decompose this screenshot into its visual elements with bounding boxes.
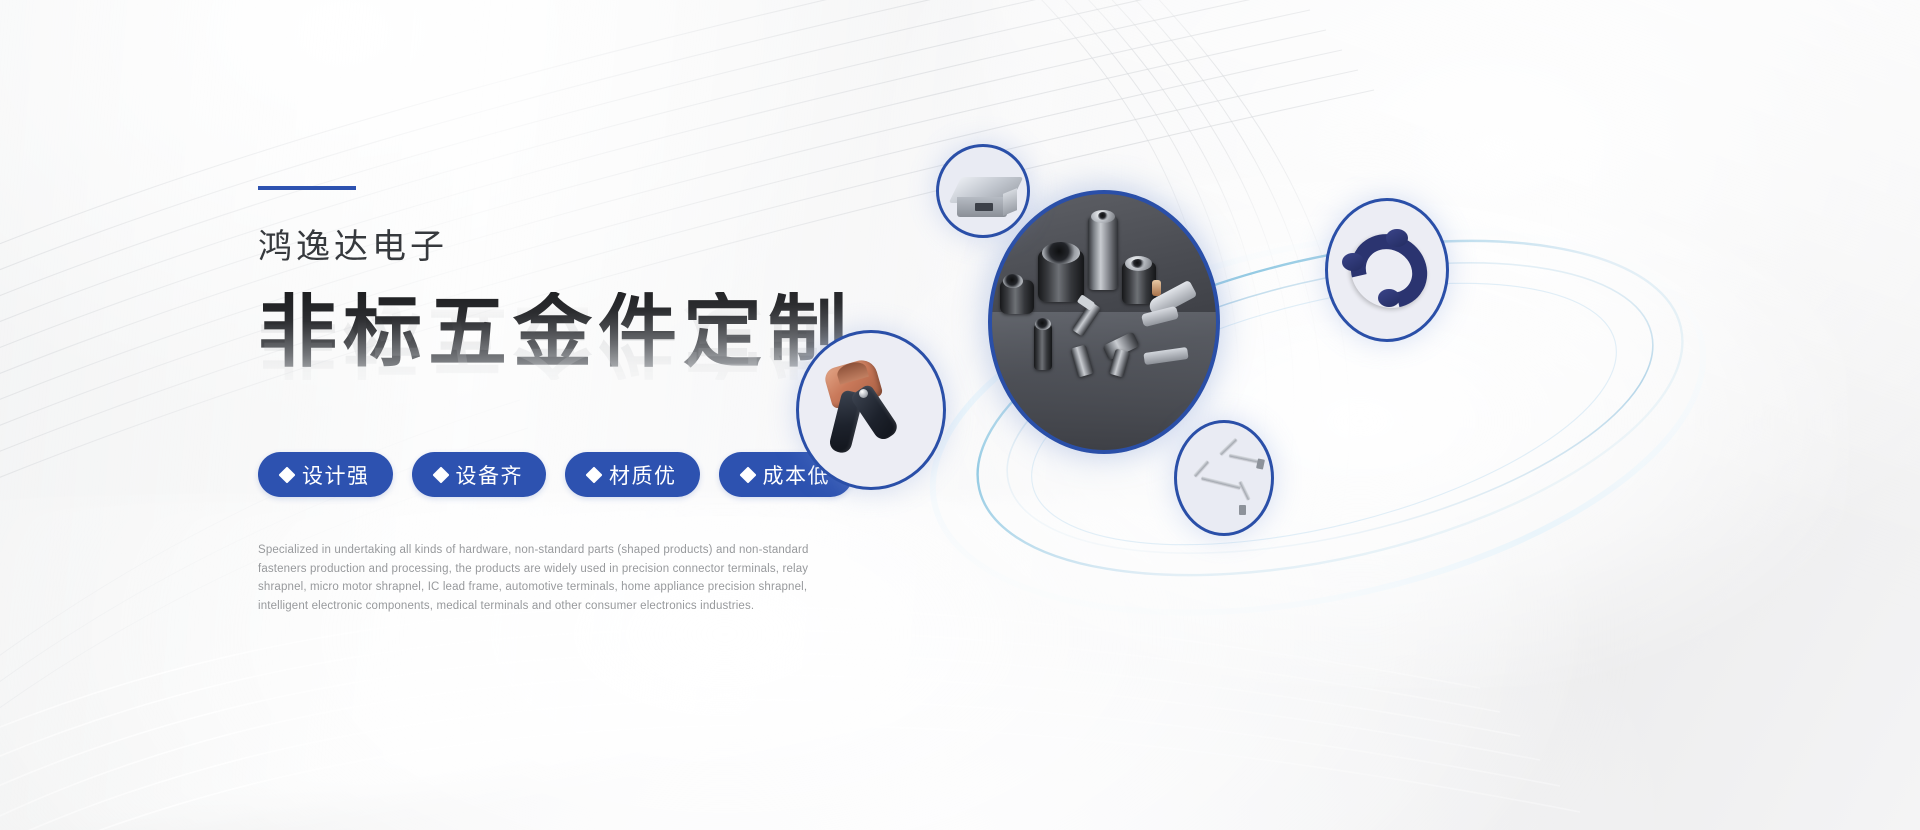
diamond-icon — [279, 466, 296, 483]
enclosure-slot — [975, 203, 993, 211]
terminal-lower-tip — [1239, 505, 1246, 515]
terminal-upper-segment-a — [1219, 438, 1237, 455]
retaining-ring-lug — [1342, 253, 1364, 271]
part-cylinder-tall — [1088, 216, 1118, 290]
retaining-ring-photo — [1328, 201, 1446, 339]
bent-terminals-photo — [1177, 423, 1271, 533]
feature-badge-label: 材质优 — [609, 460, 677, 490]
diamond-icon — [739, 466, 756, 483]
part-pin-lower-left — [1034, 324, 1052, 370]
terminal-lower-segment-a — [1193, 460, 1209, 477]
clamp-pivot-rivet — [859, 389, 868, 398]
part-bore-socket — [1131, 259, 1145, 268]
company-description: Specialized in undertaking all kinds of … — [258, 541, 818, 616]
metal-enclosure-photo — [939, 147, 1027, 235]
bubble-copper-battery-clamp[interactable] — [796, 330, 946, 490]
product-showcase — [900, 170, 1780, 640]
part-bore-tall — [1098, 212, 1108, 220]
battery-clamp-photo — [799, 333, 943, 487]
part-bore-connector-left — [1003, 274, 1023, 288]
retaining-ring-lug — [1386, 229, 1408, 247]
diamond-icon — [432, 466, 449, 483]
enclosure-side-face — [1003, 188, 1017, 216]
part-bore-sleeve — [1042, 242, 1080, 264]
feature-badge-design[interactable]: 设计强 — [258, 452, 393, 497]
diamond-icon — [586, 466, 603, 483]
brand-name: 鸿逸达电子 — [258, 230, 898, 264]
terminal-upper-tip — [1256, 458, 1265, 469]
feature-badge-label: 设备齐 — [456, 460, 524, 490]
part-bore-lower-left — [1035, 318, 1051, 330]
feature-badge-material[interactable]: 材质优 — [565, 452, 700, 497]
bubble-metal-enclosure-box[interactable] — [936, 144, 1030, 238]
feature-badge-label: 设计强 — [302, 460, 370, 490]
part-brass-stud — [1152, 280, 1161, 296]
terminal-lower-segment-c — [1239, 481, 1250, 500]
bubble-blue-c-retaining-ring[interactable] — [1325, 198, 1449, 342]
hero-banner: 鸿逸达电子 非标五金件定制 非标五金件定制 设计强 设备齐 材质优 成本低 — [0, 0, 1920, 830]
bubble-bent-metal-terminals[interactable] — [1174, 420, 1274, 536]
accent-bar — [258, 186, 356, 190]
retaining-ring-lug — [1378, 289, 1400, 307]
feature-badge-equipment[interactable]: 设备齐 — [412, 452, 547, 497]
terminal-lower-segment-b — [1201, 476, 1241, 489]
